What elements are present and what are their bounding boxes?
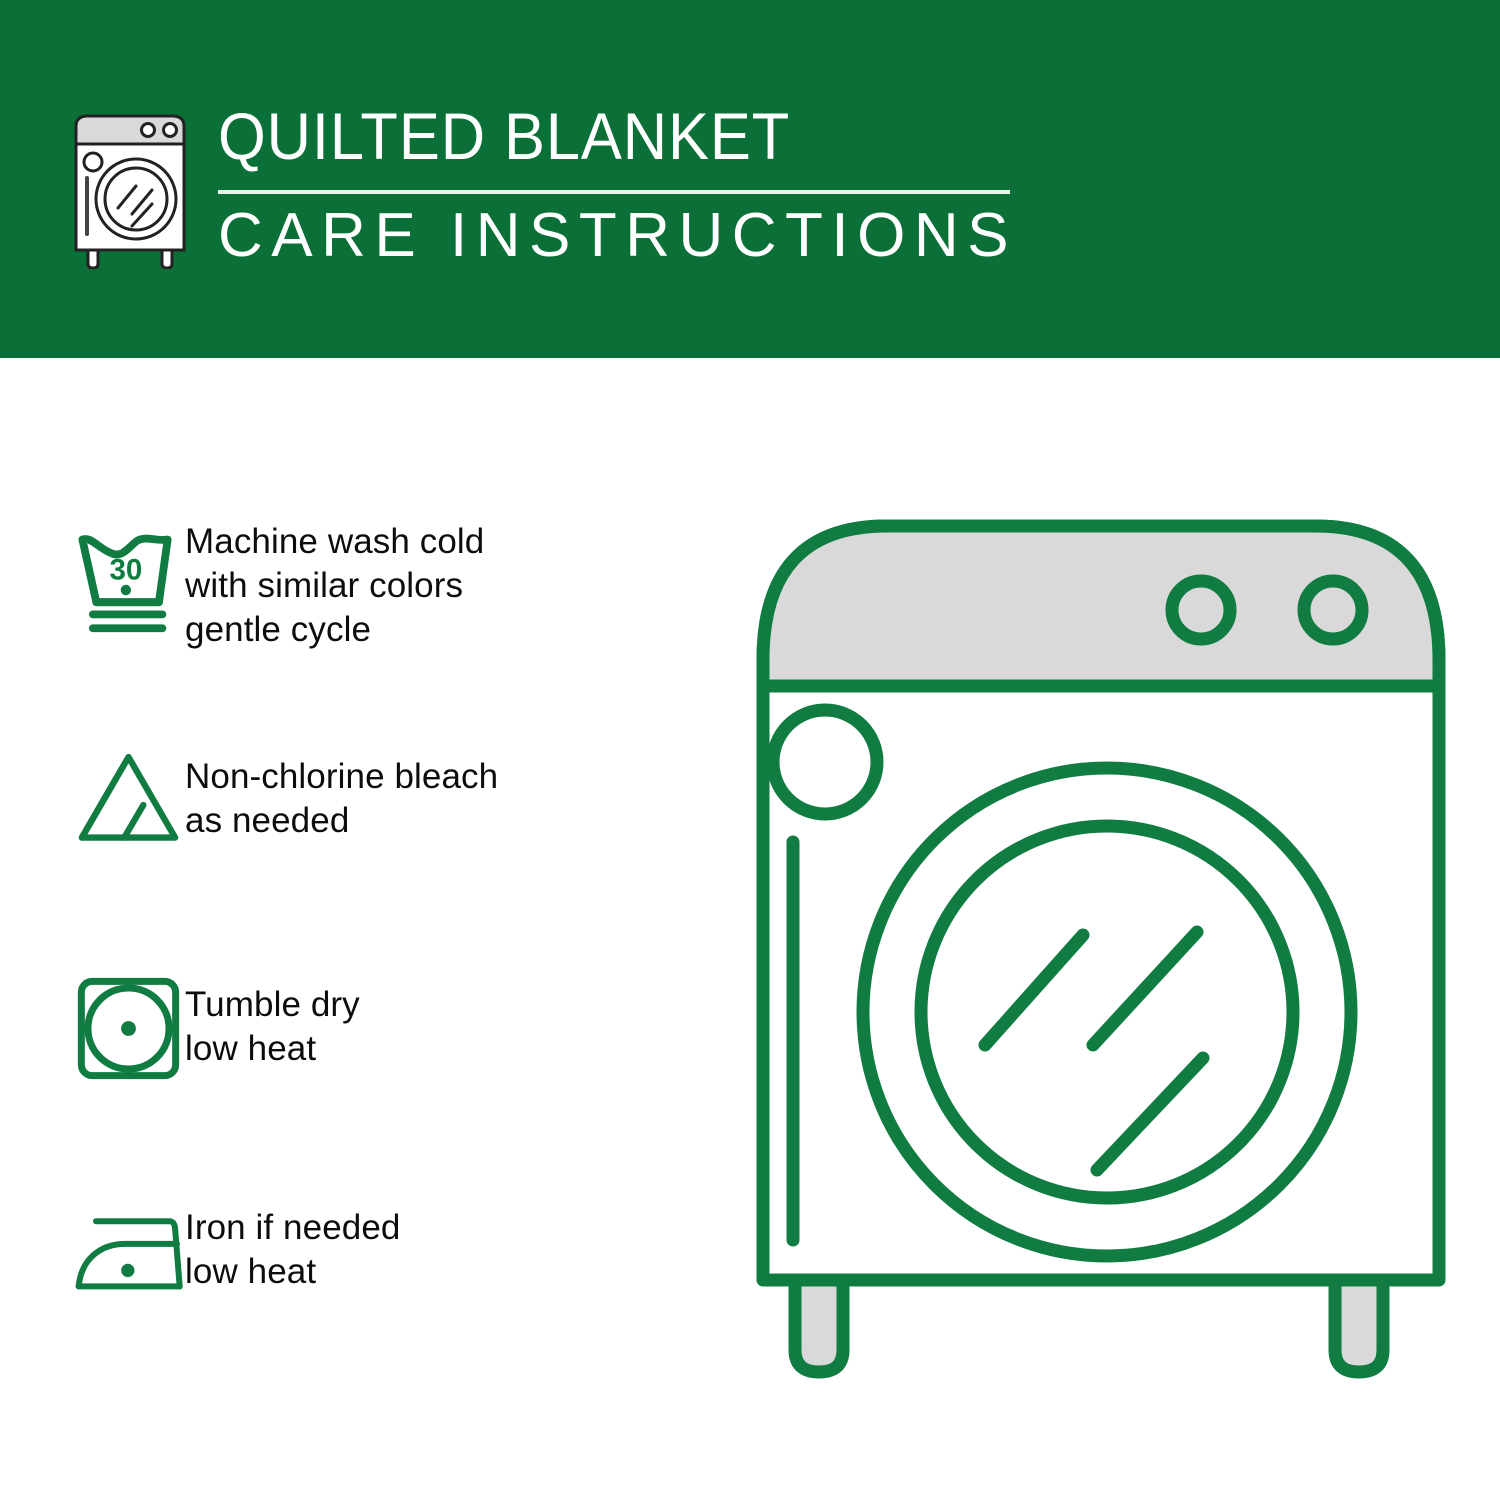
- care-item-tumble-dry: Tumble dry low heat: [0, 953, 730, 1103]
- care-item-text: Machine wash cold with similar colors ge…: [185, 508, 484, 652]
- care-text-line: Machine wash cold: [185, 520, 484, 564]
- care-instructions-infographic: QUILTED BLANKET CARE INSTRUCTIONS: [0, 0, 1500, 1500]
- care-text-line: Tumble dry: [185, 983, 360, 1027]
- header-title-group: QUILTED BLANKET: [218, 100, 1018, 172]
- care-text-line: gentle cycle: [185, 608, 484, 652]
- front-load-washing-machine-illustration: [735, 480, 1465, 1430]
- care-text-line: with similar colors: [185, 564, 484, 608]
- care-text-line: as needed: [185, 799, 498, 843]
- wash-temperature-label: 30: [109, 553, 142, 586]
- wash-tub-30-gentle-icon: 30: [0, 508, 185, 658]
- washer-leg-left: [795, 1280, 843, 1372]
- page-subtitle: CARE INSTRUCTIONS: [218, 200, 1038, 272]
- washer-leg-right: [1335, 1280, 1383, 1372]
- care-item-iron: Iron if needed low heat: [0, 1178, 730, 1328]
- non-chlorine-bleach-triangle-icon: [0, 723, 185, 873]
- care-text-line: low heat: [185, 1250, 400, 1294]
- care-item-machine-wash: 30 Machine wash cold with similar colors…: [0, 508, 730, 658]
- care-text-line: Non-chlorine bleach: [185, 755, 498, 799]
- care-item-text: Iron if needed low heat: [185, 1178, 400, 1294]
- care-symbol-list: 30 Machine wash cold with similar colors…: [0, 358, 730, 1500]
- iron-low-heat-icon: [0, 1178, 185, 1328]
- page-title: QUILTED BLANKET: [218, 100, 962, 172]
- care-item-text: Tumble dry low heat: [185, 953, 360, 1071]
- care-item-bleach: Non-chlorine bleach as needed: [0, 723, 730, 873]
- care-text-line: Iron if needed: [185, 1206, 400, 1250]
- header-banner: QUILTED BLANKET CARE INSTRUCTIONS: [0, 0, 1500, 358]
- washing-machine-icon: [60, 104, 200, 269]
- washer-knob-2: [1304, 581, 1362, 639]
- care-item-text: Non-chlorine bleach as needed: [185, 723, 498, 843]
- washer-door-inner: [921, 826, 1293, 1198]
- care-text-line: low heat: [185, 1027, 360, 1071]
- title-divider: [218, 190, 1010, 194]
- washer-knob-1: [1172, 581, 1230, 639]
- washer-detergent-dial: [773, 710, 877, 814]
- tumble-dry-low-heat-icon: [0, 953, 185, 1103]
